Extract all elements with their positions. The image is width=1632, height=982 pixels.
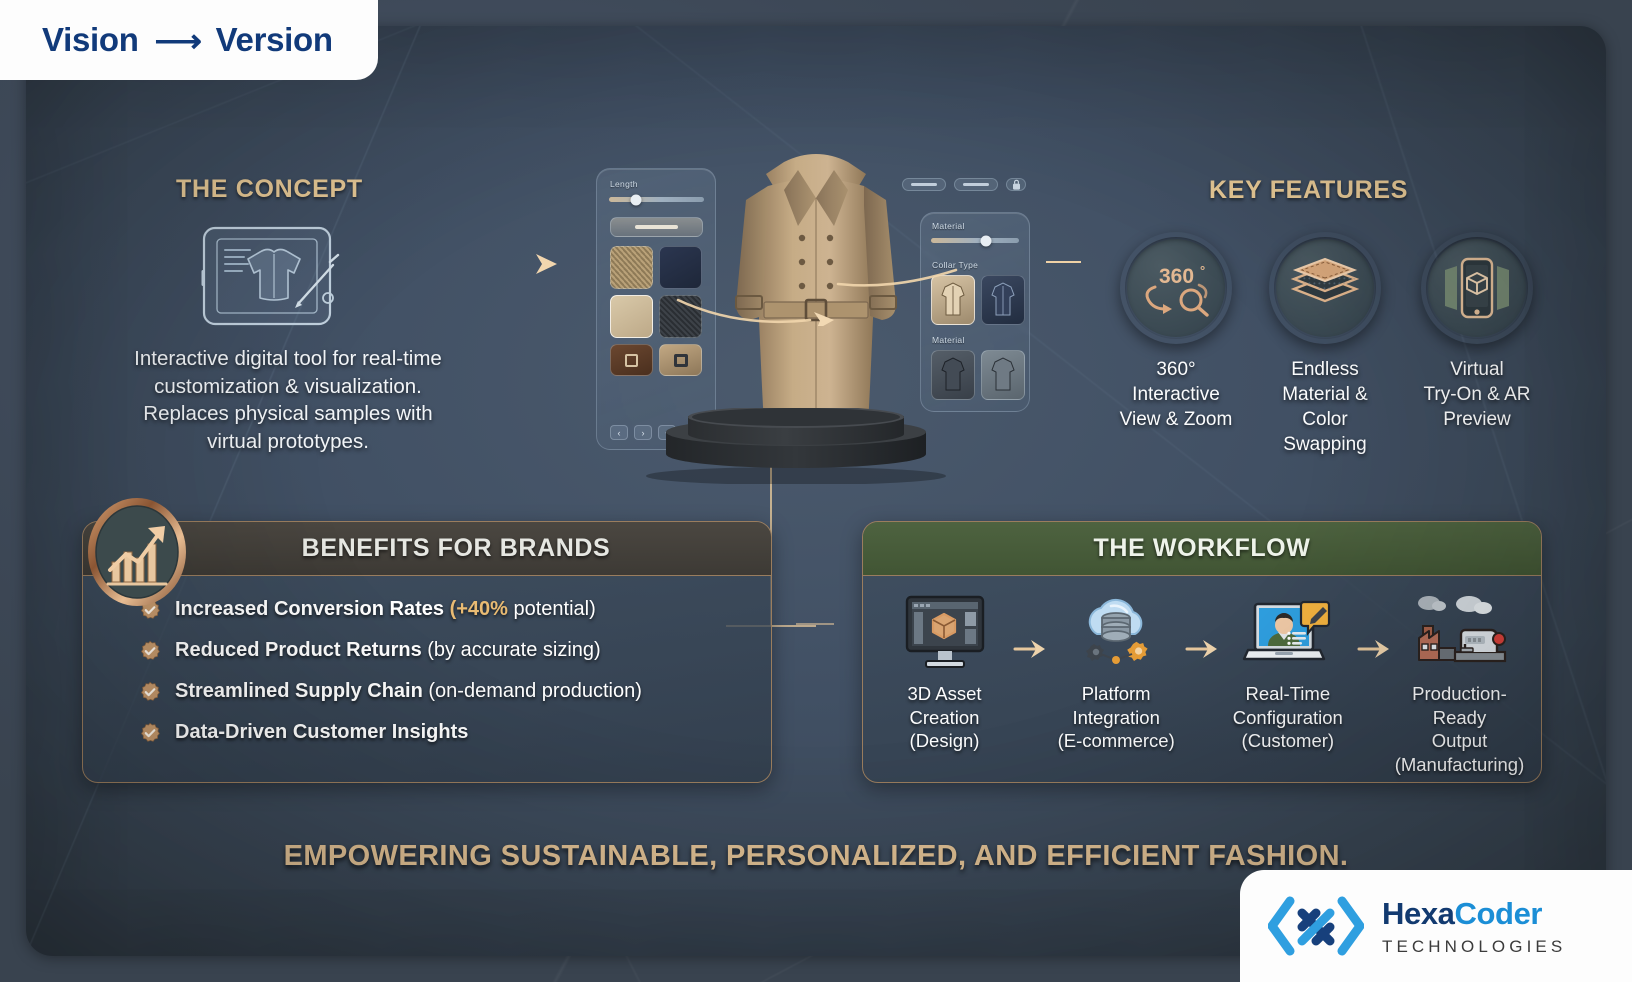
feature-ring-0: 360 ° bbox=[1120, 232, 1232, 344]
workflow-3-line2: Output bbox=[1392, 729, 1527, 753]
footer-brand-text: HexaCoder TECHNOLOGIES bbox=[1382, 898, 1566, 955]
workflow-1-line2: Integration bbox=[1049, 706, 1184, 730]
infographic-root: THE CONCEPT bbox=[0, 0, 1632, 982]
chevron-right-arrow-icon bbox=[1185, 592, 1219, 665]
feature-0-line-1: Interactive bbox=[1103, 382, 1249, 407]
grey-coat-thumb[interactable] bbox=[981, 350, 1025, 400]
footer-brand-logo: HexaCoder TECHNOLOGIES bbox=[1240, 870, 1632, 982]
benefit-tail-1: (by accurate sizing) bbox=[427, 639, 600, 661]
benefit-gold-0: (+40% bbox=[450, 598, 508, 620]
concept-line-1: customization & visualization. bbox=[88, 373, 488, 401]
workflow-panel-header: THE WORKFLOW bbox=[863, 522, 1541, 576]
benefits-title: BENEFITS FOR BRANDS bbox=[244, 534, 611, 563]
benefit-lead-2: Streamlined Supply Chain bbox=[175, 680, 428, 702]
feature-2-line-0: Virtual bbox=[1404, 357, 1550, 382]
toolbar-pill-2[interactable] bbox=[954, 178, 998, 191]
feature-label-0: 360° Interactive View & Zoom bbox=[1103, 357, 1249, 432]
material-options[interactable] bbox=[931, 350, 1025, 400]
feature-1-line-2: Color bbox=[1252, 407, 1398, 432]
material-layers-icon bbox=[1276, 239, 1374, 337]
benefit-lead-1: Reduced Product Returns bbox=[175, 639, 427, 661]
lock-icon[interactable] bbox=[1006, 178, 1026, 191]
cream-canvas-swatch[interactable] bbox=[610, 295, 653, 338]
benefit-text-3: Data-Driven Customer Insights bbox=[175, 721, 468, 744]
feature-0-line-0: 360° bbox=[1103, 357, 1249, 382]
footer-brand-sub: TECHNOLOGIES bbox=[1382, 938, 1566, 955]
workflow-2-line3: (Customer) bbox=[1220, 729, 1355, 753]
header-version-text: Version bbox=[216, 21, 333, 59]
herringbone-tan-swatch[interactable] bbox=[610, 246, 653, 289]
feature-0-line-2: View & Zoom bbox=[1103, 407, 1249, 432]
workflow-2-line1: Real-Time bbox=[1220, 682, 1355, 706]
features-section-title: KEY FEATURES bbox=[1209, 176, 1408, 205]
workflow-label-2: Real-Time Configuration (Customer) bbox=[1220, 682, 1355, 753]
apply-pill-button[interactable] bbox=[610, 217, 703, 237]
feature-ring-2 bbox=[1421, 232, 1533, 344]
feature-virtual-tryon[interactable]: Virtual Try-On & AR Preview bbox=[1404, 232, 1550, 432]
footer-brand-name: HexaCoder bbox=[1382, 898, 1566, 929]
footer-name-hexa: Hexa bbox=[1382, 896, 1455, 931]
benefit-row-3: Data-Driven Customer Insights bbox=[139, 721, 771, 744]
benefit-lead-3: Data-Driven Customer Insights bbox=[175, 721, 468, 743]
workflow-3-line1: Production-Ready bbox=[1392, 682, 1527, 729]
concept-section-title: THE CONCEPT bbox=[176, 175, 363, 204]
growth-chart-medallion bbox=[86, 496, 188, 608]
ar-phone-cube-icon bbox=[1428, 239, 1526, 337]
workflow-step-0[interactable]: 3D Asset Creation (Design) bbox=[877, 592, 1012, 753]
check-badge-icon bbox=[139, 681, 161, 703]
concept-line-2: Replaces physical samples with bbox=[88, 400, 488, 428]
workflow-steps: 3D Asset Creation (Design) bbox=[863, 576, 1541, 776]
feature-1-line-0: Endless bbox=[1252, 357, 1398, 382]
header-vision-text: Vision bbox=[42, 21, 139, 59]
360-rotation-arc bbox=[656, 256, 986, 326]
header-arrow-icon: ⟶ bbox=[155, 21, 202, 60]
feature-label-2: Virtual Try-On & AR Preview bbox=[1404, 357, 1550, 432]
brown-leather-belt-swatch[interactable] bbox=[610, 344, 653, 376]
feature-label-1: Endless Material & Color Swapping bbox=[1252, 357, 1398, 457]
tablet-stylus-garment-icon bbox=[198, 222, 350, 334]
navy-trench-thumb[interactable] bbox=[981, 275, 1025, 325]
length-slider-label: Length bbox=[610, 179, 638, 189]
length-slider[interactable] bbox=[609, 197, 704, 202]
feature-1-line-3: Swapping bbox=[1252, 432, 1398, 457]
swatch-prev-button[interactable]: ‹ bbox=[610, 425, 628, 440]
concept-description: Interactive digital tool for real-time c… bbox=[88, 345, 488, 455]
material-slider[interactable] bbox=[931, 238, 1019, 243]
workflow-panel: THE WORKFLOW bbox=[862, 521, 1542, 783]
benefit-row-1: Reduced Product Returns (by accurate siz… bbox=[139, 639, 771, 662]
chevron-right-arrow-icon bbox=[1013, 592, 1047, 665]
stone-podium bbox=[646, 408, 946, 484]
header-logo-chip: Vision ⟶ Version bbox=[0, 0, 378, 80]
dark-coat-thumb[interactable] bbox=[931, 350, 975, 400]
laptop-customer-edit-icon bbox=[1220, 592, 1355, 674]
feature-1-line-1: Material & bbox=[1252, 382, 1398, 407]
feature-360-view[interactable]: 360 ° 360° Interactive View & Zoom bbox=[1103, 232, 1249, 432]
check-badge-icon bbox=[139, 722, 161, 744]
chevron-right-arrow-icon bbox=[1357, 592, 1391, 665]
desktop-3d-modeling-icon bbox=[877, 592, 1012, 674]
hexacoder-mark-icon bbox=[1268, 891, 1364, 961]
concept-line-3: virtual prototypes. bbox=[88, 428, 488, 456]
feature-ring-1 bbox=[1269, 232, 1381, 344]
black-buckle-belt-swatch[interactable] bbox=[659, 344, 702, 376]
workflow-step-2[interactable]: Real-Time Configuration (Customer) bbox=[1220, 592, 1355, 753]
benefit-lead-0: Increased Conversion Rates bbox=[175, 598, 450, 620]
workflow-step-3[interactable]: Production-Ready Output (Manufacturing) bbox=[1392, 592, 1527, 776]
material-slider-knob[interactable] bbox=[980, 235, 991, 246]
cloud-database-gears-icon bbox=[1049, 592, 1184, 674]
infographic-board: THE CONCEPT bbox=[26, 26, 1606, 956]
benefit-tail-0: potential) bbox=[508, 598, 596, 620]
workflow-1-line1: Platform bbox=[1049, 682, 1184, 706]
workflow-0-line2: Creation bbox=[877, 706, 1012, 730]
benefit-tail-2: (on-demand production) bbox=[428, 680, 641, 702]
workflow-3-line3: (Manufacturing) bbox=[1392, 753, 1527, 777]
svg-text:°: ° bbox=[1200, 263, 1205, 278]
workflow-step-1[interactable]: Platform Integration (E-commerce) bbox=[1049, 592, 1184, 753]
concept-line-0: Interactive digital tool for real-time bbox=[88, 345, 488, 373]
360-rotate-zoom-icon: 360 ° bbox=[1127, 239, 1225, 337]
factory-sewing-icon bbox=[1392, 592, 1527, 674]
svg-text:360: 360 bbox=[1159, 265, 1194, 288]
tagline: EMPOWERING SUSTAINABLE, PERSONALIZED, AN… bbox=[26, 840, 1606, 873]
benefit-text-1: Reduced Product Returns (by accurate siz… bbox=[175, 639, 601, 662]
benefit-row-2: Streamlined Supply Chain (on-demand prod… bbox=[139, 680, 771, 703]
feature-2-line-1: Try-On & AR bbox=[1404, 382, 1550, 407]
workflow-label-3: Production-Ready Output (Manufacturing) bbox=[1392, 682, 1527, 776]
benefit-row-0: Increased Conversion Rates (+40% potenti… bbox=[139, 598, 771, 621]
benefit-text-0: Increased Conversion Rates (+40% potenti… bbox=[175, 598, 596, 621]
length-slider-knob[interactable] bbox=[630, 194, 641, 205]
workflow-0-line1: 3D Asset bbox=[877, 682, 1012, 706]
footer-name-coder: Coder bbox=[1455, 896, 1543, 931]
benefit-text-2: Streamlined Supply Chain (on-demand prod… bbox=[175, 680, 642, 703]
feature-2-line-2: Preview bbox=[1404, 407, 1550, 432]
material-slider-label: Material bbox=[932, 221, 965, 231]
feature-material-swapping[interactable]: Endless Material & Color Swapping bbox=[1252, 232, 1398, 457]
workflow-label-0: 3D Asset Creation (Design) bbox=[877, 682, 1012, 753]
material-group-label: Material bbox=[932, 335, 965, 345]
workflow-0-line3: (Design) bbox=[877, 729, 1012, 753]
check-badge-icon bbox=[139, 640, 161, 662]
workflow-1-line3: (E-commerce) bbox=[1049, 729, 1184, 753]
workflow-title: THE WORKFLOW bbox=[1094, 534, 1311, 563]
workflow-2-line2: Configuration bbox=[1220, 706, 1355, 730]
workflow-label-1: Platform Integration (E-commerce) bbox=[1049, 682, 1184, 753]
